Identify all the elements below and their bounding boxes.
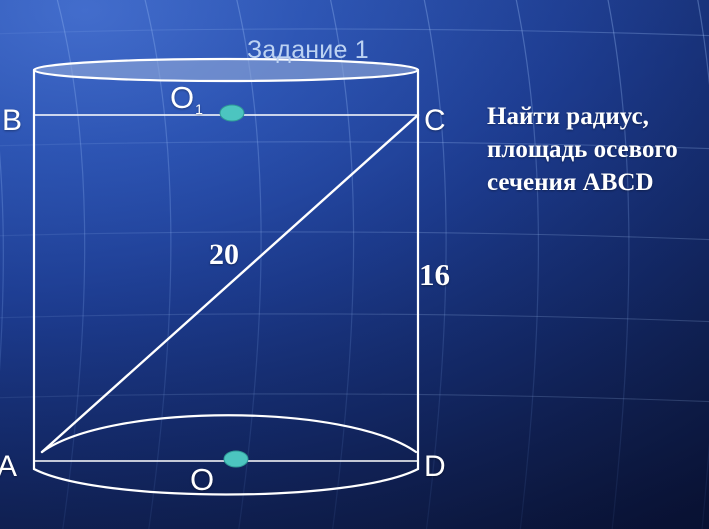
- vertex-label-b: B: [2, 106, 22, 136]
- center-label-o1-subscript: 1: [195, 101, 203, 117]
- center-label-o1-base: O: [170, 80, 194, 115]
- vertex-label-c: C: [424, 106, 446, 136]
- measure-diagonal: 20: [209, 240, 239, 270]
- measure-height: 16: [419, 259, 450, 290]
- center-dot-O1: [220, 105, 244, 121]
- task-statement: Найти радиус, площадь осевого сечения AB…: [487, 100, 702, 199]
- center-dot-O: [224, 451, 248, 467]
- vertex-label-a: A: [0, 452, 17, 482]
- slide-title: Задание 1: [247, 36, 369, 65]
- segment-AC-diagonal: [42, 115, 418, 452]
- center-label-o1: O1: [170, 82, 202, 113]
- cylinder-bottom-front-arc: [34, 469, 418, 495]
- cylinder-bottom-back-arc: [42, 415, 416, 452]
- slide-canvas: Задание 1 B C A D O O1 20 16 Найти радиу…: [0, 0, 709, 529]
- center-label-o: O: [190, 464, 214, 495]
- cylinder-figure: [0, 0, 709, 529]
- vertex-label-d: D: [424, 452, 446, 482]
